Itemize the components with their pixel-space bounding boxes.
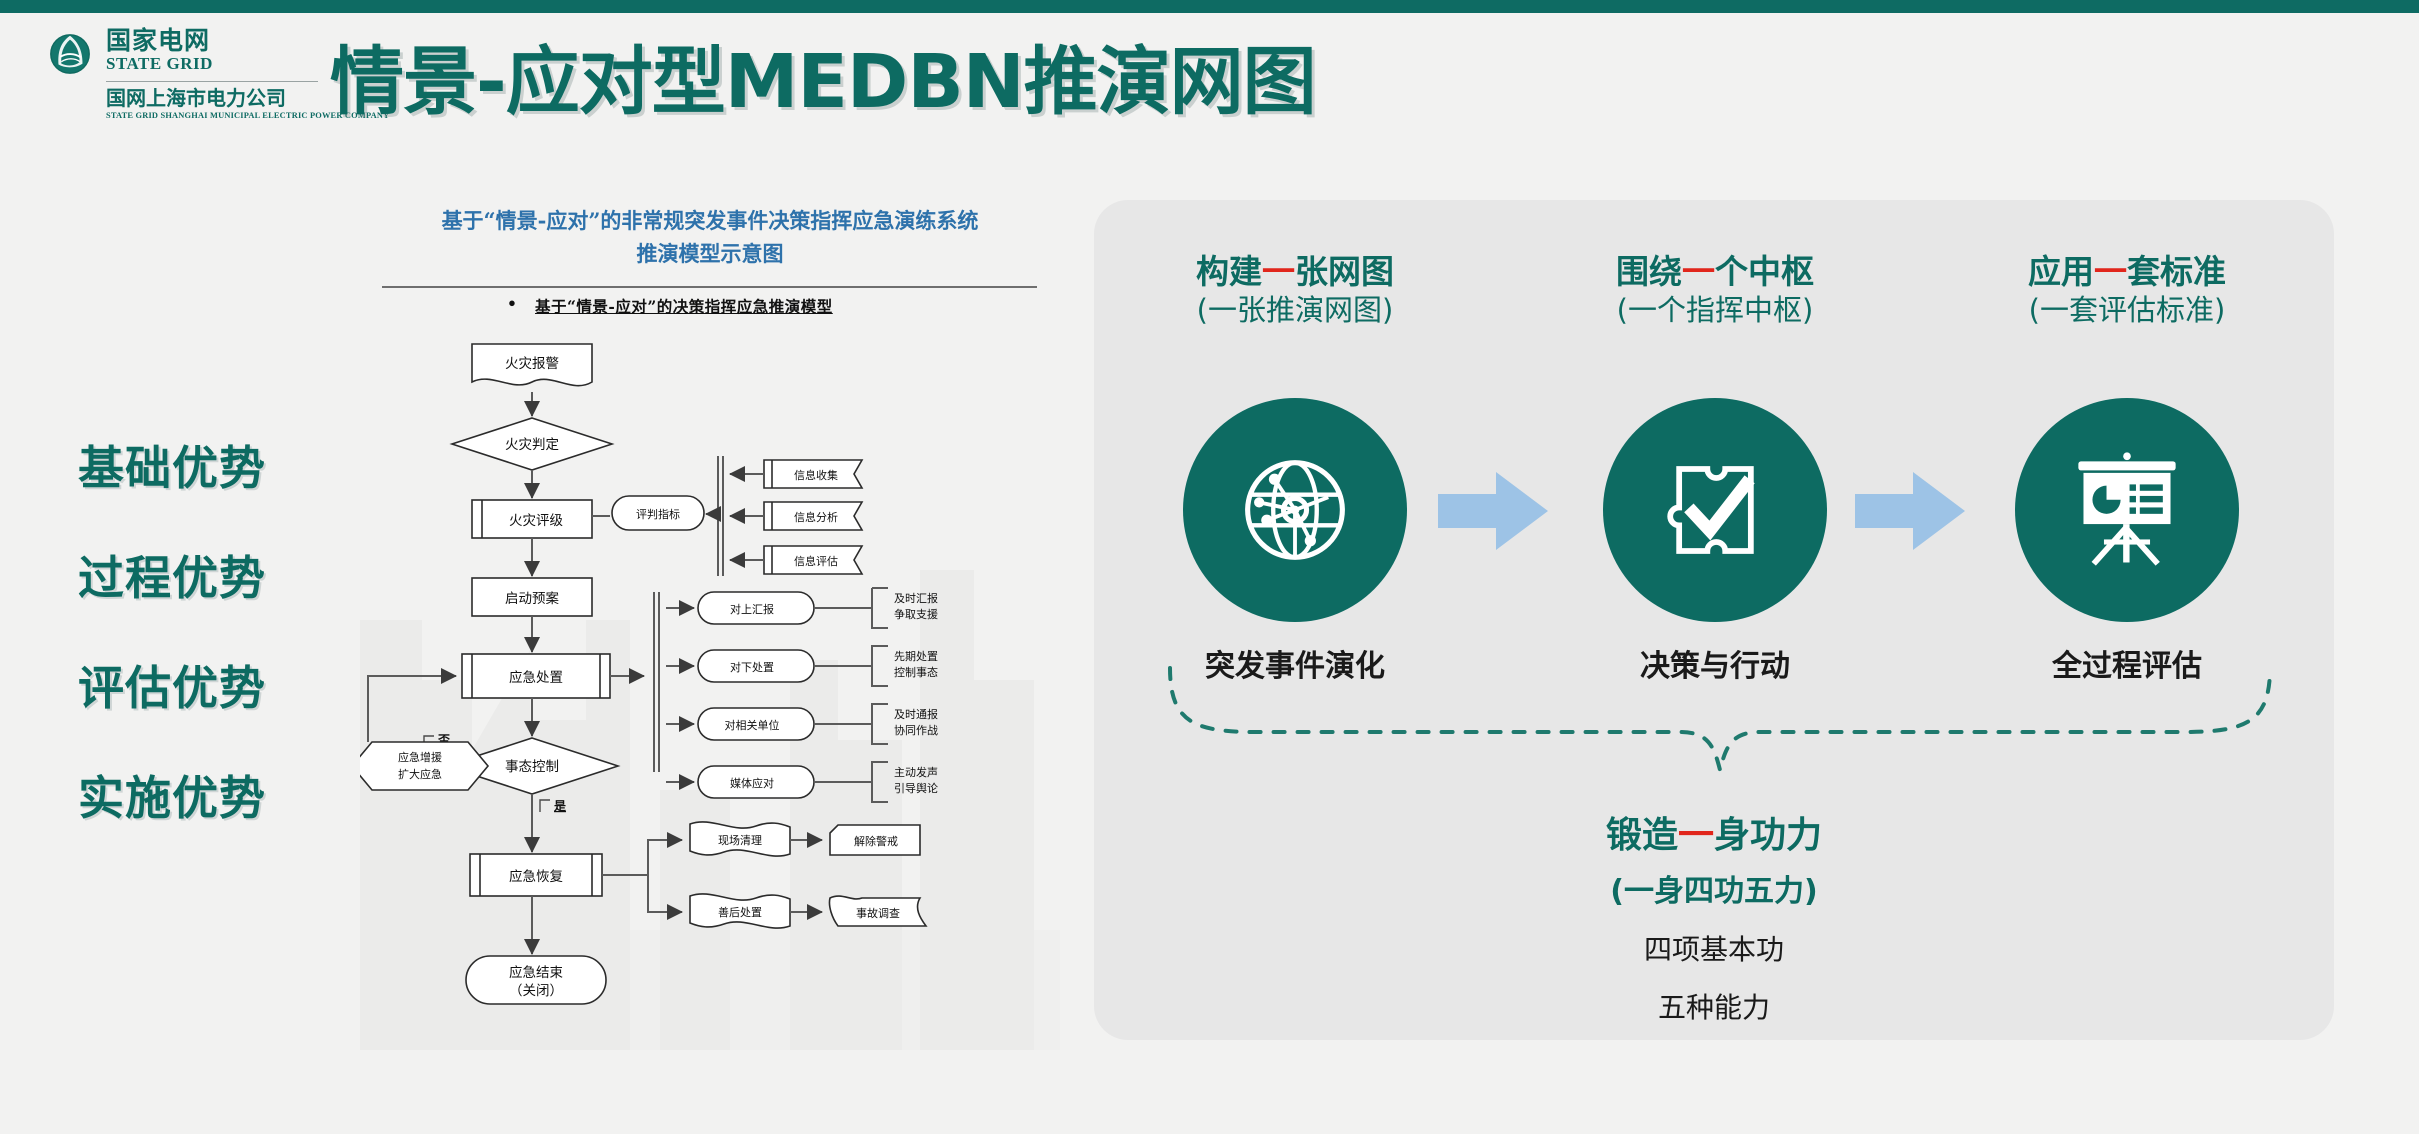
globe-network-icon bbox=[1231, 446, 1359, 574]
node-fire-judgement-label: 火灾判定 bbox=[505, 436, 559, 453]
slide-root: 国家电网 STATE GRID 国网上海市电力公司 STATE GRID SHA… bbox=[0, 0, 2419, 1134]
flowchart-panel: 基于“情景-应对”的非常规突发事件决策指挥应急演练系统 推演模型示意图 基于“情… bbox=[360, 200, 1060, 1050]
flowchart-title-line1: 基于“情景-应对”的非常规突发事件决策指挥应急演练系统 bbox=[360, 205, 1060, 238]
node-emergency-reinforcement-label-1: 应急增援 bbox=[398, 750, 442, 764]
result-3-line1: 及时通报 bbox=[894, 707, 938, 721]
pillar-3-circle[interactable] bbox=[2015, 398, 2239, 622]
arrow-2-to-3 bbox=[1855, 468, 1965, 554]
summary-line-1: 锻造一身功力 bbox=[1094, 806, 2334, 858]
advantage-item-2[interactable]: 过程优势 bbox=[78, 542, 266, 608]
node-notify-units-label: 对相关单位 bbox=[725, 718, 780, 732]
node-activate-plan-label: 启动预案 bbox=[505, 590, 559, 607]
node-info-analyze-label: 信息分析 bbox=[794, 510, 838, 524]
node-emergency-end-label-2: （关闭） bbox=[509, 983, 563, 999]
background-city-silhouette bbox=[360, 570, 1060, 1050]
dashed-brace bbox=[1160, 660, 2280, 780]
pillar-3-heading-main: 应用一套标准 bbox=[1962, 252, 2292, 292]
node-situation-control-label: 事态控制 bbox=[505, 759, 559, 775]
node-lift-cordon-label: 解除警戒 bbox=[854, 834, 898, 848]
flowchart-title-line2: 推演模型示意图 bbox=[360, 238, 1060, 271]
state-grid-globe-icon bbox=[46, 30, 94, 78]
advantage-item-1[interactable]: 基础优势 bbox=[78, 432, 266, 498]
result-4-line1: 主动发声 bbox=[894, 765, 938, 779]
pillar-2-heading: 围绕一个中枢 (一个指挥中枢) bbox=[1550, 252, 1880, 330]
node-emergency-reinforcement-label-2: 扩大应急 bbox=[398, 767, 442, 781]
node-site-cleanup-label: 现场清理 bbox=[718, 833, 762, 847]
node-emergency-reinforcement bbox=[360, 742, 488, 790]
result-2-line1: 先期处置 bbox=[894, 650, 938, 663]
node-report-upward-label: 对上汇报 bbox=[730, 602, 774, 616]
node-fire-rating-label: 火灾评级 bbox=[509, 512, 563, 529]
summary-line-2: (一身四功五力) bbox=[1094, 866, 2334, 910]
pillar-1-heading-sub: (一张推演网图) bbox=[1130, 292, 1460, 330]
result-4-line2: 引导舆论 bbox=[894, 781, 938, 795]
presentation-board-icon bbox=[2063, 446, 2191, 574]
flowchart-divider bbox=[382, 286, 1037, 288]
result-3-line2: 协同作战 bbox=[894, 723, 938, 737]
advantage-item-3[interactable]: 评估优势 bbox=[78, 652, 266, 718]
puzzle-check-icon bbox=[1651, 446, 1779, 574]
result-2-line2: 控制事态 bbox=[894, 665, 938, 679]
advantage-item-4[interactable]: 实施优势 bbox=[78, 762, 266, 828]
summary-block: 锻造一身功力 (一身四功五力) 四项基本功 五种能力 bbox=[1094, 806, 2334, 1026]
pillar-2-heading-sub: (一个指挥中枢) bbox=[1550, 292, 1880, 330]
node-emergency-response-label: 应急处置 bbox=[509, 669, 563, 686]
node-emergency-recovery-label: 应急恢复 bbox=[509, 868, 563, 885]
logo-divider bbox=[106, 81, 318, 82]
page-title: 情景-应对型MEDBN推演网图 bbox=[330, 22, 1316, 129]
flowchart-bullet: 基于“情景-应对”的决策指挥应急推演模型 bbox=[535, 295, 833, 317]
node-accident-investigation-label: 事故调查 bbox=[856, 906, 900, 920]
result-1-line2: 争取支援 bbox=[894, 607, 938, 621]
advantage-list: 基础优势 过程优势 评估优势 实施优势 bbox=[78, 432, 266, 872]
result-1-line1: 及时汇报 bbox=[894, 591, 938, 605]
node-media-response-label: 媒体应对 bbox=[730, 776, 774, 790]
pillar-1-circle[interactable] bbox=[1183, 398, 1407, 622]
node-evaluation-criteria-label: 评判指标 bbox=[636, 507, 680, 521]
node-dispatch-downward-label: 对下处置 bbox=[730, 660, 774, 674]
node-fire-alarm-label: 火灾报警 bbox=[505, 355, 559, 372]
summary-line-3: 四项基本功 bbox=[1094, 928, 2334, 968]
node-info-assess-label: 信息评估 bbox=[794, 554, 838, 568]
branch-label-yes: 是 bbox=[553, 799, 567, 813]
pillar-1-heading-main: 构建一张网图 bbox=[1130, 252, 1460, 292]
flowchart-title: 基于“情景-应对”的非常规突发事件决策指挥应急演练系统 推演模型示意图 bbox=[360, 205, 1060, 270]
node-aftermath-label: 善后处置 bbox=[718, 905, 762, 919]
top-accent-bar bbox=[0, 0, 2419, 13]
arrow-1-to-2 bbox=[1438, 468, 1548, 554]
pillar-3-heading-sub: (一套评估标准) bbox=[1962, 292, 2292, 330]
pillar-3-heading: 应用一套标准 (一套评估标准) bbox=[1962, 252, 2292, 330]
node-info-collect-label: 信息收集 bbox=[794, 468, 838, 482]
summary-line-4: 五种能力 bbox=[1094, 986, 2334, 1026]
pillar-2-circle[interactable] bbox=[1603, 398, 1827, 622]
node-emergency-end-label-1: 应急结束 bbox=[509, 964, 563, 981]
pillar-1-heading: 构建一张网图 (一张推演网图) bbox=[1130, 252, 1460, 330]
flowchart-diagram: 火灾报警 火灾判定 火灾评级 启动预案 应急处置 bbox=[360, 320, 1060, 1050]
pillar-2-heading-main: 围绕一个中枢 bbox=[1550, 252, 1880, 292]
